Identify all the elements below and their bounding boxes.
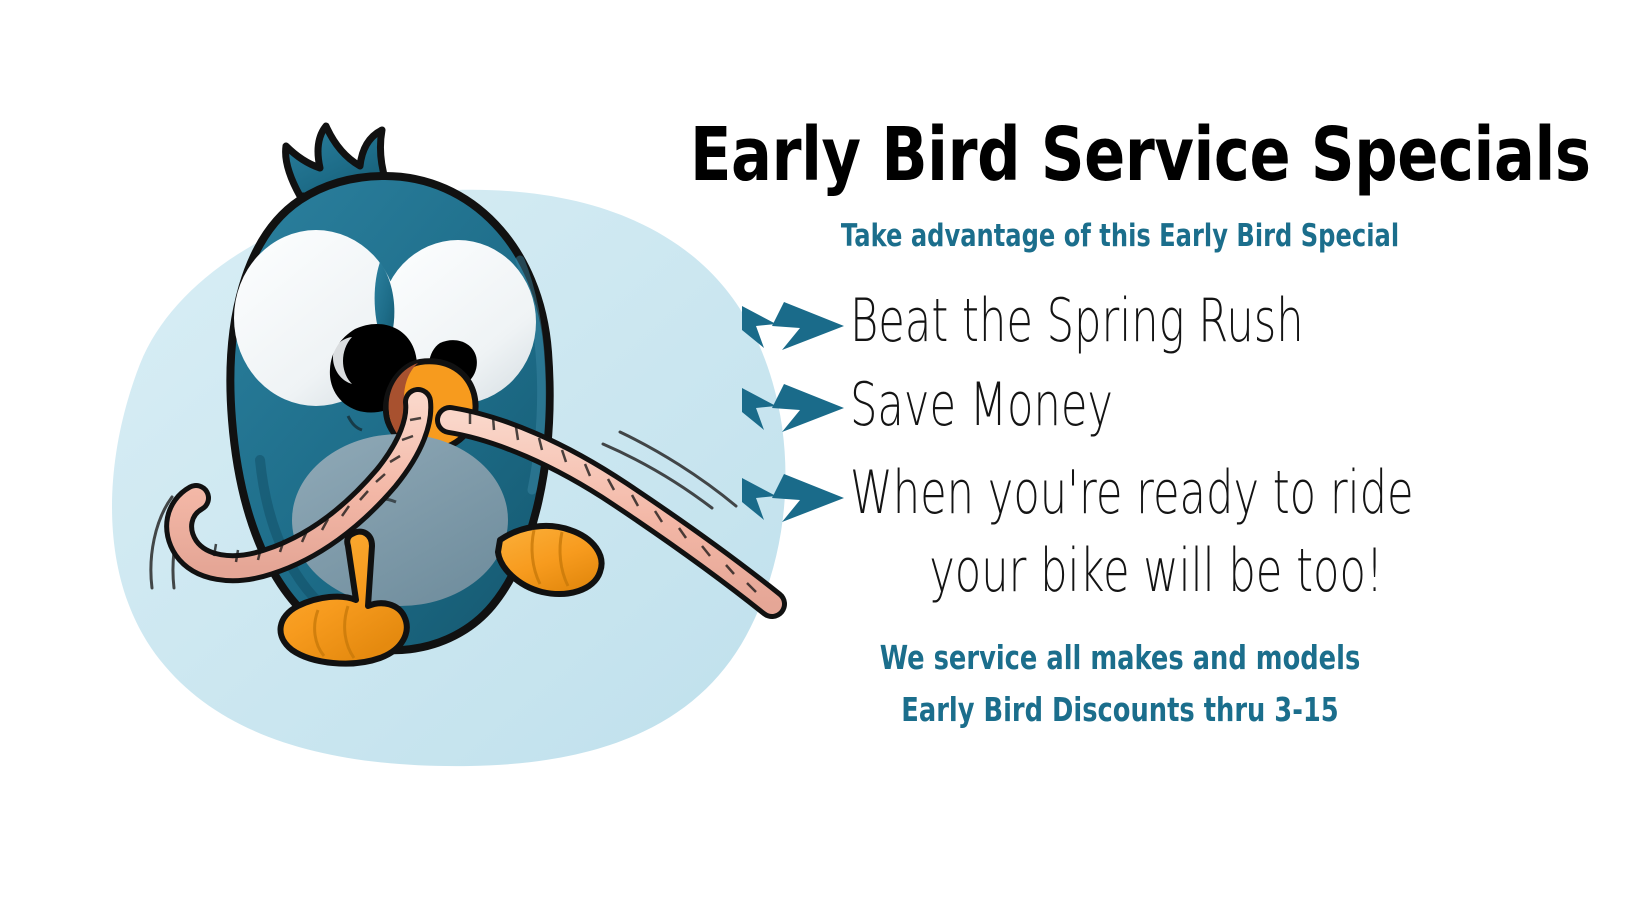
- list-item-label: Beat the Spring Rush: [850, 282, 1419, 360]
- list-item-label: Save Money: [850, 366, 1419, 444]
- list-item-label-multiline: When you're ready to ride your bike will…: [850, 454, 1419, 610]
- list-item: Save Money: [720, 366, 1640, 444]
- page-title: Early Bird Service Specials: [690, 118, 1510, 192]
- subtitle: Take advantage of this Early Bird Specia…: [714, 218, 1525, 254]
- double-chevron-right-icon: [742, 472, 844, 524]
- benefits-list: Beat the Spring Rush Save Money: [720, 282, 1640, 610]
- list-item: When you're ready to ride your bike will…: [720, 454, 1640, 610]
- double-chevron-right-icon: [742, 382, 844, 434]
- footer-line-services: We service all makes and models: [714, 638, 1525, 677]
- double-chevron-right-icon: [742, 300, 844, 352]
- poster-canvas: Early Bird Service Specials Take advanta…: [0, 0, 1640, 924]
- list-item: Beat the Spring Rush: [720, 282, 1640, 360]
- list-item-label-line2: your bike will be too!: [850, 532, 1419, 610]
- list-item-label-line1: When you're ready to ride: [850, 458, 1414, 528]
- text-column: Early Bird Service Specials Take advanta…: [600, 0, 1640, 924]
- footer-line-discount-date: Early Bird Discounts thru 3-15: [714, 690, 1525, 729]
